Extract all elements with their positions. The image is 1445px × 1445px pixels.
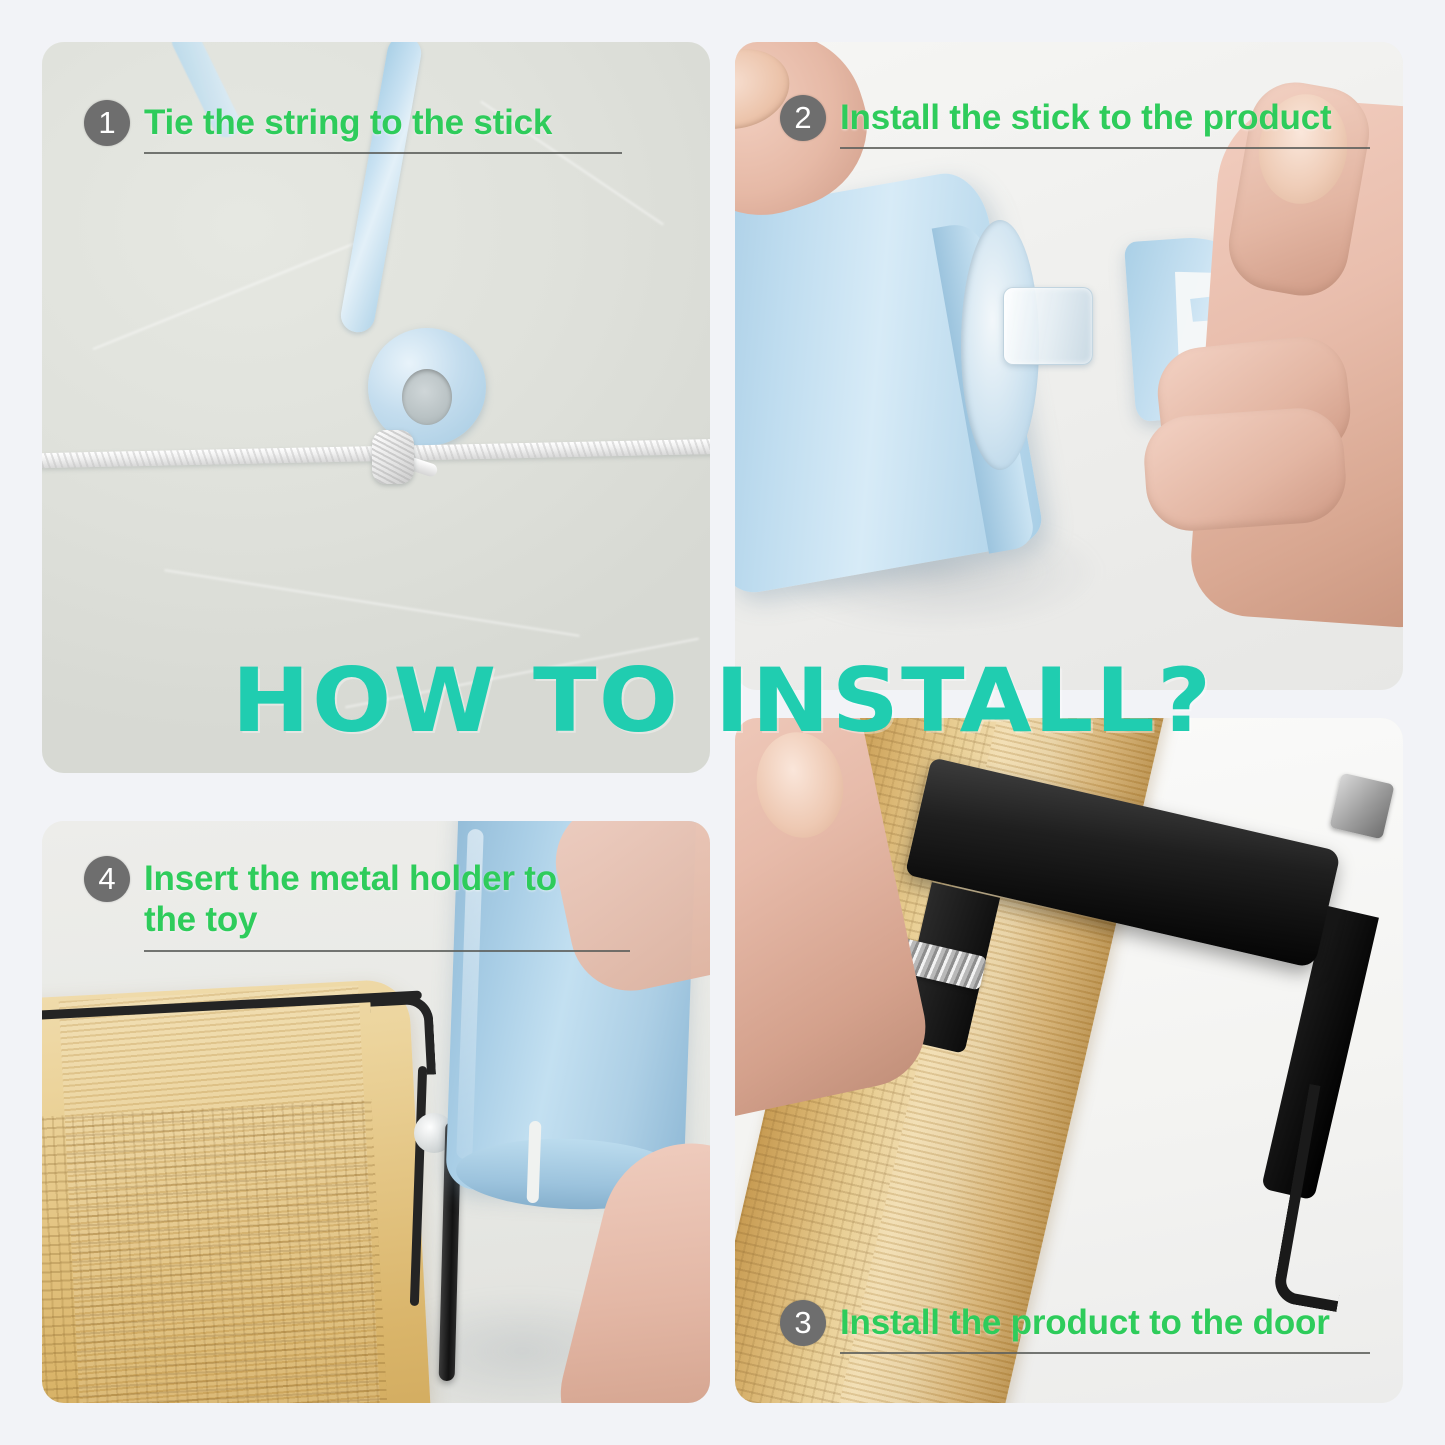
knot-texture (372, 430, 414, 484)
clear-plastic-peg (1003, 287, 1093, 365)
step-4-caption-text: Insert the metal holder to the toy (144, 858, 630, 941)
how-to-install-infographic: 1 Tie the string to the stick 2 Install … (0, 0, 1445, 1445)
step-1-number-badge: 1 (84, 100, 130, 146)
step-4-underline (144, 950, 630, 952)
step-1-caption-text: Tie the string to the stick (144, 102, 622, 143)
step-2-caption-text: Install the stick to the product (840, 97, 1370, 138)
step-2-number-badge: 2 (780, 95, 826, 141)
step-1-underline (144, 152, 622, 154)
hook-eyelet-hole (402, 369, 452, 425)
step-3-text-wrap: Install the product to the door (840, 1300, 1370, 1354)
step-2-caption: 2 Install the stick to the product (780, 95, 1400, 149)
step-2-underline (840, 147, 1370, 149)
step-1-text-wrap: Tie the string to the stick (144, 100, 622, 154)
metal-holder-corner (370, 994, 436, 1077)
step-4-number-badge: 4 (84, 856, 130, 902)
step-3-underline (840, 1352, 1370, 1354)
step-4-text-wrap: Insert the metal holder to the toy (144, 856, 630, 952)
step-2-text-wrap: Install the stick to the product (840, 95, 1370, 149)
step-4-caption: 4 Insert the metal holder to the toy (84, 856, 634, 952)
string-knot (372, 430, 414, 484)
bamboo-grain-texture (59, 986, 386, 1403)
right-middle-finger (1141, 405, 1349, 534)
step-3-number-badge: 3 (780, 1300, 826, 1346)
step-3-caption: 3 Install the product to the door (780, 1300, 1400, 1354)
step-3-caption-text: Install the product to the door (840, 1302, 1370, 1343)
step-1-caption: 1 Tie the string to the stick (84, 100, 644, 154)
